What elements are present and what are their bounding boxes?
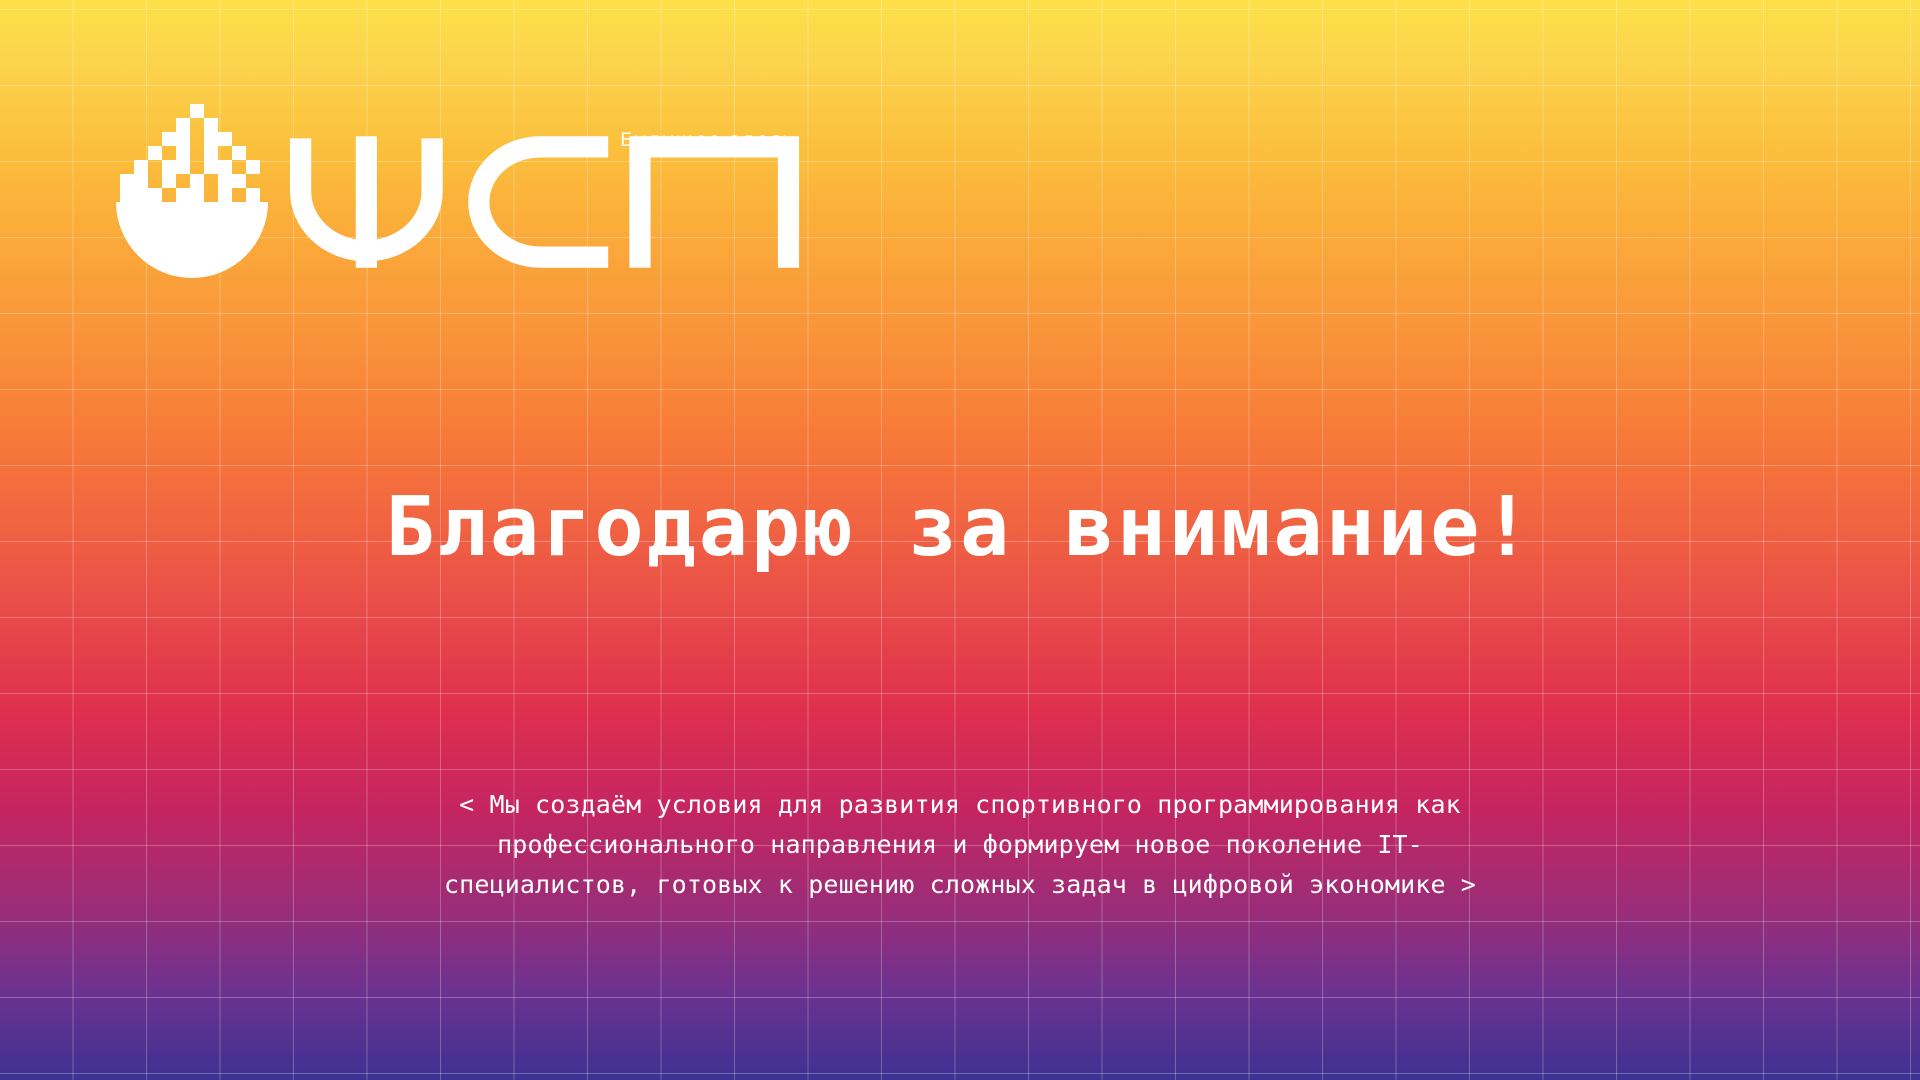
body-copy-line-3: специалистов, готовых к решению сложных … bbox=[345, 865, 1575, 905]
body-copy-line-1: < Мы создаём условия для развития спорти… bbox=[345, 785, 1575, 825]
fsp-wordmark bbox=[290, 132, 820, 272]
slide-headline: Благодарю за внимание! bbox=[0, 487, 1920, 569]
body-copy-line-2: профессионального направления и формируе… bbox=[345, 825, 1575, 865]
slide-body-copy: < Мы создаём условия для развития спорти… bbox=[345, 785, 1575, 905]
presentation-slide: Будущее здесь Благодарю за внимание! < М… bbox=[0, 0, 1920, 1080]
fsp-pixel-bowl-emblem-icon bbox=[108, 104, 276, 280]
logo-tagline: Будущее здесь bbox=[620, 129, 795, 151]
